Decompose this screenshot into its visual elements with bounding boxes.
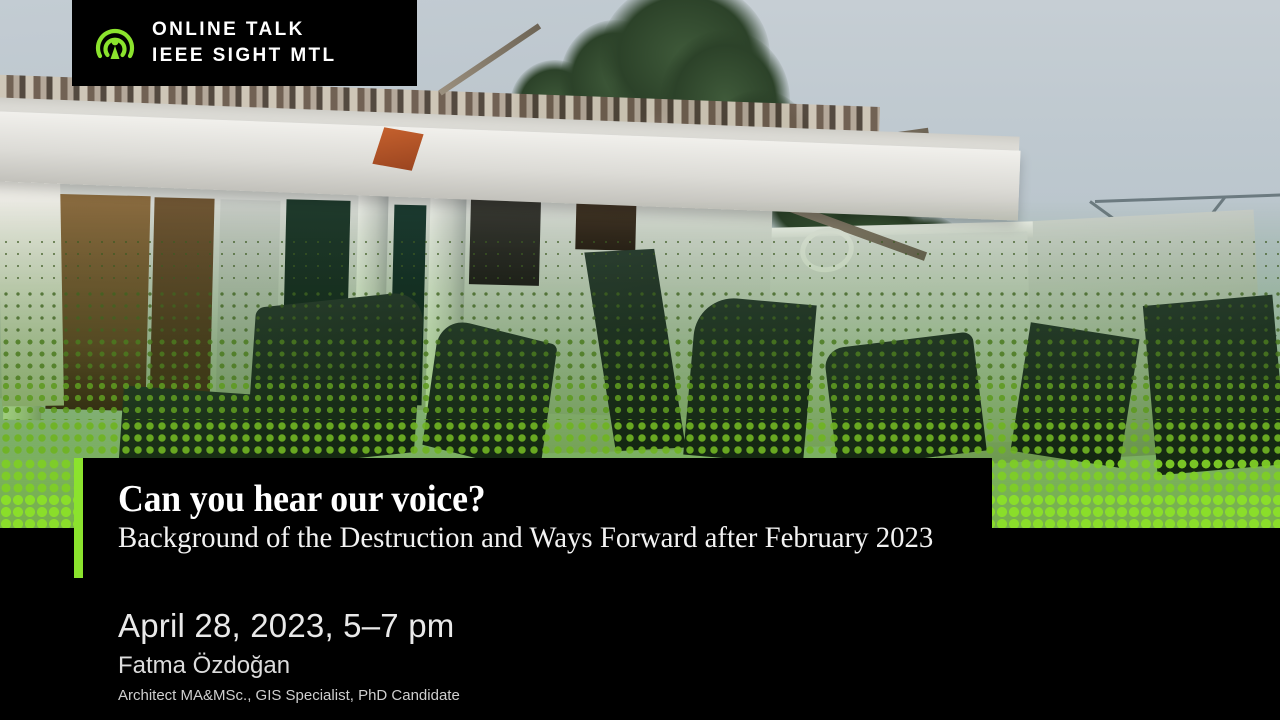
title-heading: Can you hear our voice? xyxy=(118,477,485,521)
title-subheading: Background of the Destruction and Ways F… xyxy=(118,519,933,557)
badge-line-ieee-sight-mtl: IEEE SIGHT MTL xyxy=(152,43,337,69)
event-datetime: April 28, 2023, 5–7 pm xyxy=(118,605,460,647)
badge-text-group: ONLINE TALK IEEE SIGHT MTL xyxy=(152,17,337,69)
online-talk-badge: ONLINE TALK IEEE SIGHT MTL xyxy=(72,0,417,86)
speaker-role: Architect MA&MSc., GIS Specialist, PhD C… xyxy=(118,685,460,707)
green-accent-bar xyxy=(74,458,83,578)
footer-details: April 28, 2023, 5–7 pm Fatma Özdoğan Arc… xyxy=(118,605,460,707)
poster-canvas: ONLINE TALK IEEE SIGHT MTL Can you hear … xyxy=(0,0,1280,720)
broadcast-signal-icon xyxy=(94,22,136,64)
speaker-name: Fatma Özdoğan xyxy=(118,649,460,682)
badge-line-online-talk: ONLINE TALK xyxy=(152,17,337,43)
